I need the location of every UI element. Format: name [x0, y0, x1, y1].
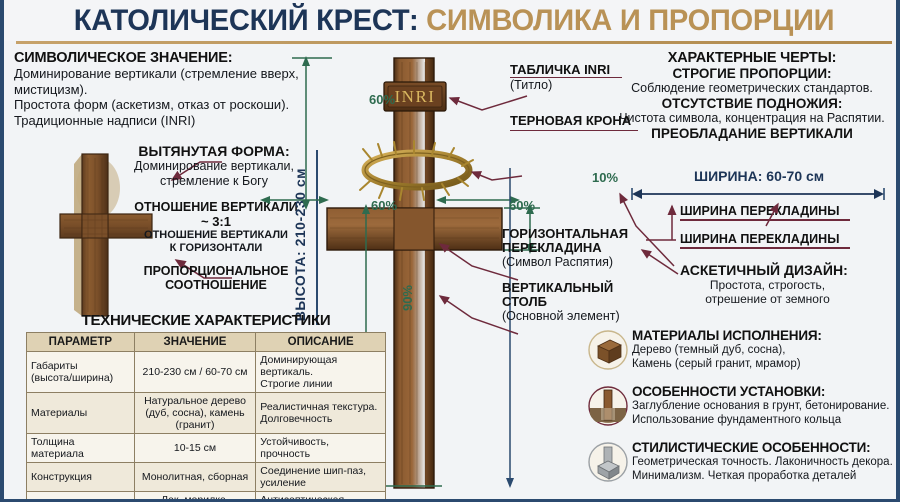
- width-label-text: ШИРИНА: 60-70 см: [694, 168, 824, 184]
- dimension-top-percent: 60%: [369, 92, 395, 107]
- crown-label-underline: [510, 130, 638, 131]
- vertical-ratio-line-2: К ГОРИЗОНТАЛИ: [128, 242, 304, 255]
- table-cell-param: Покрытие: [27, 492, 135, 502]
- features-line-1: Соблюдение геометрических стандартов.: [604, 81, 900, 96]
- symbolic-meaning-panel: СИМВОЛИЧЕСКОЕ ЗНАЧЕНИЕ: Доминирование ве…: [14, 50, 314, 128]
- dimension-right-percent: 60%: [509, 198, 535, 213]
- ascetic-pointer-arrows: [612, 178, 692, 288]
- inri-label-heading: ТАБЛИЧКА INRI: [510, 62, 610, 77]
- vertical-post-sub: (Основной элемент): [502, 309, 620, 324]
- height-guide-line: [316, 150, 318, 325]
- crown-label-heading: ТЕРНОВАЯ КРОНА: [510, 113, 631, 128]
- table-cell-desc: Реалистичная текстура.Долговечность: [256, 393, 386, 434]
- feature-installation-line-1: Заглубление основания в грунт, бетониров…: [632, 400, 900, 414]
- vertical-ratio-callout: ОТНОШЕНИЕ ВЕРТИКАЛИ ~ 3:1 ОТНОШЕНИЕ ВЕРТ…: [128, 200, 304, 255]
- features-sub-2: ОТСУТСТВИЕ ПОДНОЖИЯ:: [604, 96, 900, 111]
- table-cell-param: Материалы: [27, 393, 135, 434]
- ascetic-design-line-1: Простота, строгость,: [680, 278, 855, 292]
- technical-specs-table: ПАРАМЕТР ЗНАЧЕНИЕ ОПИСАНИЕ Габариты(высо…: [26, 332, 386, 502]
- table-row: Габариты(высота/ширина)210-230 см / 60-7…: [27, 352, 386, 393]
- features-heading: ХАРАКТЕРНЫЕ ЧЕРТЫ:: [604, 50, 900, 66]
- table-cell-value: 210-230 см / 60-70 см: [134, 352, 256, 393]
- feature-style-heading: СТИЛИСТИЧЕСКИЕ ОСОБЕННОСТИ:: [632, 440, 900, 456]
- elongated-form-callout: ВЫТЯНУТАЯ ФОРМА: Доминирование вертикали…: [124, 143, 304, 189]
- characteristic-features-panel: ХАРАКТЕРНЫЕ ЧЕРТЫ: СТРОГИЕ ПРОПОРЦИИ: Со…: [604, 50, 900, 141]
- wood-beam-icon: [588, 330, 628, 370]
- feature-style-line-1: Геометрическая точность. Лаконичность де…: [632, 456, 900, 470]
- proportional-ratio-callout: ПРОПОРЦИОНАЛЬНОЕ СООТНОШЕНИЕ: [128, 264, 304, 292]
- symbolic-meaning-heading: СИМВОЛИЧЕСКОЕ ЗНАЧЕНИЕ:: [14, 50, 314, 66]
- title-divider: [16, 41, 892, 44]
- page-title: КАТОЛИЧЕСКИЙ КРЕСТ: СИМВОЛИКА И ПРОПОРЦИ…: [4, 0, 900, 41]
- inri-label-underline: [510, 77, 622, 78]
- horizontal-beam-heading-1: ГОРИЗОНТАЛЬНАЯ: [502, 226, 628, 241]
- horizontal-beam-heading-2: ПЕРЕКЛАДИНА: [502, 240, 602, 255]
- title-part-primary: КАТОЛИЧЕСКИЙ КРЕСТ:: [74, 4, 426, 37]
- dimension-guide-navy: [506, 168, 514, 488]
- table-caption: ТЕХНИЧЕСКИЕ ХАРАКТЕРИСТИКИ: [26, 312, 386, 329]
- table-cell-param: Толщина материала: [27, 434, 135, 463]
- table-cell-value: Лак, морилка,золочение: [134, 492, 256, 502]
- table-cell-desc: Соединение шип-паз,усиление: [256, 463, 386, 492]
- feature-materials-line-1: Дерево (темный дуб, сосна),: [632, 344, 900, 358]
- feature-materials-heading: МАТЕРИАЛЫ ИСПОЛНЕНИЯ:: [632, 328, 900, 344]
- title-part-accent: СИМВОЛИКА И ПРОПОРЦИИ: [426, 4, 834, 37]
- feature-materials: МАТЕРИАЛЫ ИСПОЛНЕНИЯ: Дерево (темный дуб…: [588, 328, 900, 380]
- ascetic-design-line-2: отрешение от земного: [680, 292, 855, 306]
- horizontal-beam-sub: (Символ Распятия): [502, 255, 613, 270]
- table-cell-desc: Доминирующая вертикаль.Строгие линии: [256, 352, 386, 393]
- table-body: Габариты(высота/ширина)210-230 см / 60-7…: [27, 352, 386, 502]
- symbolic-meaning-line-4: Традиционные надписи (INRI): [14, 113, 314, 129]
- table-header-desc: ОПИСАНИЕ: [256, 333, 386, 352]
- proportional-line-1: ПРОПОРЦИОНАЛЬНОЕ: [128, 264, 304, 278]
- table-cell-value: 10-15 см: [134, 434, 256, 463]
- dimension-vertical-percent: 90%: [400, 285, 415, 311]
- vertical-ratio-value: ~ 3:1: [128, 214, 304, 229]
- table-header-param: ПАРАМЕТР: [27, 333, 135, 352]
- table-header-row: ПАРАМЕТР ЗНАЧЕНИЕ ОПИСАНИЕ: [27, 333, 386, 352]
- symbolic-meaning-line-1: Доминирование вертикали (стремление ввер…: [14, 66, 314, 82]
- feature-installation-line-2: Использование фундаментного кольца: [632, 414, 900, 428]
- table-row: Толщина материала10-15 смУстойчивость, п…: [27, 434, 386, 463]
- post-in-ground-icon: [588, 386, 628, 426]
- elongated-form-line-1: Доминирование вертикали,: [124, 159, 304, 174]
- table-cell-value: Монолитная, сборная: [134, 463, 256, 492]
- width-label: ШИРИНА: 60-70 см: [694, 168, 824, 186]
- feature-installation-heading: ОСОБЕННОСТИ УСТАНОВКИ:: [632, 384, 900, 400]
- symbolic-meaning-line-3: Простота форм (аскетизм, отказ от роскош…: [14, 97, 314, 113]
- vertical-ratio-line-1: ОТНОШЕНИЕ ВЕРТИКАЛИ: [128, 229, 304, 242]
- elongated-form-heading: ВЫТЯНУТАЯ ФОРМА:: [124, 143, 304, 159]
- table-cell-param: Конструкция: [27, 463, 135, 492]
- dimension-left-percent: 60%: [371, 198, 397, 213]
- ascetic-design-callout: АСКЕТИЧНЫЙ ДИЗАЙН: Простота, строгость, …: [680, 262, 880, 306]
- features-line-2: Чистота символа, концентрация на Распяти…: [604, 111, 900, 126]
- table-row: МатериалыНатуральное дерево(дуб, сосна),…: [27, 393, 386, 434]
- features-sub-1: СТРОГИЕ ПРОПОРЦИИ:: [604, 66, 900, 81]
- vertical-ratio-heading: ОТНОШЕНИЕ ВЕРТИКАЛИ: [128, 200, 304, 214]
- table-cell-param: Габариты(высота/ширина): [27, 352, 135, 393]
- features-sub-3: ПРЕОБЛАДАНИЕ ВЕРТИКАЛИ: [604, 126, 900, 141]
- table-header-value: ЗНАЧЕНИЕ: [134, 333, 256, 352]
- feature-installation: ОСОБЕННОСТИ УСТАНОВКИ: Заглубление основ…: [588, 384, 900, 436]
- infographic-page: КАТОЛИЧЕСКИЙ КРЕСТ: СИМВОЛИКА И ПРОПОРЦИ…: [0, 0, 900, 502]
- table-row: ПокрытиеЛак, морилка,золочениеАнтисептич…: [27, 492, 386, 502]
- ascetic-design-heading: АСКЕТИЧНЫЙ ДИЗАЙН:: [680, 262, 880, 278]
- vertical-post-heading-2: СТОЛБ: [502, 294, 547, 309]
- proportional-line-2: СООТНОШЕНИЕ: [128, 278, 304, 292]
- feature-style-line-2: Минимализм. Четкая проработка деталей: [632, 470, 900, 484]
- features-list: МАТЕРИАЛЫ ИСПОЛНЕНИЯ: Дерево (темный дуб…: [588, 328, 900, 496]
- table-cell-desc: Устойчивость, прочность: [256, 434, 386, 463]
- elongated-form-line-2: стремление к Богу: [124, 174, 304, 189]
- table-row: КонструкцияМонолитная, сборнаяСоединение…: [27, 463, 386, 492]
- stone-base-icon: [588, 442, 628, 482]
- table-cell-desc: Антисептическаяобработка, декор: [256, 492, 386, 502]
- inri-label-sub: (Титло): [510, 78, 552, 93]
- feature-style: СТИЛИСТИЧЕСКИЕ ОСОБЕННОСТИ: Геометрическ…: [588, 440, 900, 492]
- table-cell-value: Натуральное дерево(дуб, сосна), камень(г…: [134, 393, 256, 434]
- feature-materials-line-2: Камень (серый гранит, мрамор): [632, 358, 900, 372]
- vertical-post-heading-1: ВЕРТИКАЛЬНЫЙ: [502, 280, 613, 295]
- symbolic-meaning-line-2: мистицизм).: [14, 82, 314, 98]
- technical-specs-section: ТЕХНИЧЕСКИЕ ХАРАКТЕРИСТИКИ ПАРАМЕТР ЗНАЧ…: [26, 312, 386, 502]
- inri-plaque-text: INRI: [395, 87, 436, 106]
